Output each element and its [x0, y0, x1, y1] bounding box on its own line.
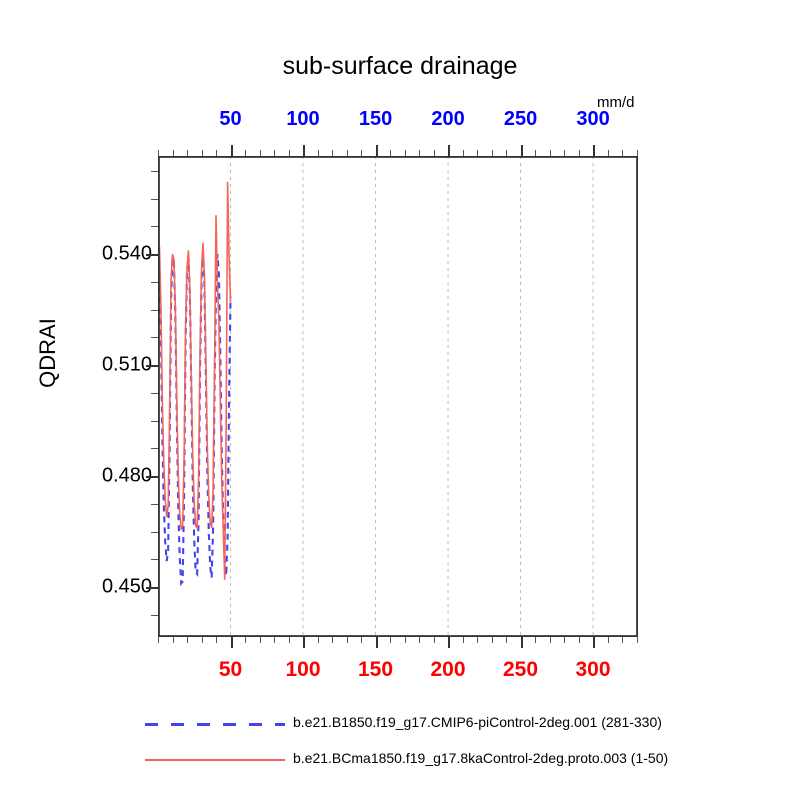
y-axis-tick-label: 0.540 [102, 243, 152, 266]
legend-item[interactable]: b.e21.BCma1850.f19_g17.8kaControl-2deg.p… [140, 746, 700, 774]
y-axis-minor-tick [151, 421, 158, 422]
y-axis-minor-tick [151, 171, 158, 172]
y-axis-minor-tick [151, 226, 158, 227]
bottom-axis-minor-tick [463, 637, 464, 643]
bottom-axis-minor-tick [550, 637, 551, 643]
top-axis-minor-tick [260, 150, 261, 156]
plot-area [158, 156, 638, 637]
bottom-axis-minor-tick [419, 637, 420, 643]
bottom-axis-major-tick [448, 637, 450, 648]
top-axis-minor-tick [637, 150, 638, 156]
bottom-axis-minor-tick [535, 637, 536, 643]
top-axis-minor-tick [318, 150, 319, 156]
bottom-axis-minor-tick [492, 637, 493, 643]
bottom-axis-minor-tick [260, 637, 261, 643]
y-axis-minor-tick [151, 282, 158, 283]
y-axis-minor-tick [151, 310, 158, 311]
top-axis-minor-tick [535, 150, 536, 156]
bottom-axis-minor-tick [637, 637, 638, 643]
y-axis-tick-label: 0.510 [102, 354, 152, 377]
bottom-axis-minor-tick [245, 637, 246, 643]
bottom-axis-major-tick [521, 637, 523, 648]
top-axis-major-tick [376, 145, 378, 156]
chart-canvas: sub-surface drainage mm/d 50100150200250… [0, 0, 800, 800]
bottom-axis-minor-tick [608, 637, 609, 643]
top-axis-minor-tick [173, 150, 174, 156]
top-axis-minor-tick [245, 150, 246, 156]
bottom-axis-major-tick [303, 637, 305, 648]
top-axis-minor-tick [477, 150, 478, 156]
top-axis-tick-labels: 50100150200250300 [158, 108, 638, 132]
y-axis-minor-tick [151, 504, 158, 505]
y-axis-major-tick [146, 365, 158, 367]
bottom-axis-major-tick [376, 637, 378, 648]
bottom-axis-tick-label: 100 [285, 658, 320, 682]
top-axis-tick-label: 250 [504, 108, 537, 131]
top-axis-minor-tick [216, 150, 217, 156]
top-axis-major-tick [448, 145, 450, 156]
bottom-axis-minor-tick [187, 637, 188, 643]
y-axis-tick-label: 0.450 [102, 576, 152, 599]
legend-solid-line-icon [145, 759, 285, 761]
bottom-axis-minor-tick [202, 637, 203, 643]
bottom-axis-minor-tick [274, 637, 275, 643]
bottom-axis-minor-tick [477, 637, 478, 643]
legend-item-label: b.e21.BCma1850.f19_g17.8kaControl-2deg.p… [293, 750, 668, 766]
y-axis-major-tick [146, 587, 158, 589]
top-axis-minor-tick [289, 150, 290, 156]
top-axis-tick-label: 100 [286, 108, 319, 131]
y-axis-minor-tick [151, 448, 158, 449]
top-axis-minor-tick [202, 150, 203, 156]
bottom-axis-minor-tick [347, 637, 348, 643]
top-axis-minor-tick [579, 150, 580, 156]
bottom-axis-tick-label: 300 [576, 658, 611, 682]
top-axis-minor-tick [187, 150, 188, 156]
top-axis-minor-tick [492, 150, 493, 156]
top-axis-minor-tick [419, 150, 420, 156]
bottom-axis-minor-tick [158, 637, 159, 643]
bottom-axis-minor-tick [216, 637, 217, 643]
top-axis-minor-tick [550, 150, 551, 156]
bottom-axis-tick-label: 150 [358, 658, 393, 682]
bottom-axis-minor-tick [361, 637, 362, 643]
bottom-axis-minor-tick [405, 637, 406, 643]
y-axis-tick-labels: 0.4500.4800.5100.540 [60, 156, 152, 638]
top-axis-minor-tick [622, 150, 623, 156]
y-axis-title: QDRAI [35, 293, 61, 413]
bottom-axis-minor-tick [506, 637, 507, 643]
top-axis-tick-label: 300 [576, 108, 609, 131]
bottom-axis-tick-label: 250 [503, 658, 538, 682]
y-axis-minor-tick [151, 615, 158, 616]
top-axis-minor-tick [506, 150, 507, 156]
bottom-axis-major-tick [231, 637, 233, 648]
top-axis-minor-tick [332, 150, 333, 156]
top-axis-tick-label: 150 [359, 108, 392, 131]
top-axis-tick-label: 200 [431, 108, 464, 131]
bottom-axis-minor-tick [622, 637, 623, 643]
bottom-axis-major-tick [593, 637, 595, 648]
y-axis-minor-tick [151, 559, 158, 560]
y-axis-minor-tick [151, 199, 158, 200]
page-title: sub-surface drainage [0, 52, 800, 81]
top-axis-minor-tick [564, 150, 565, 156]
bottom-axis-minor-tick [564, 637, 565, 643]
bottom-axis-minor-tick [173, 637, 174, 643]
top-axis-major-tick [231, 145, 233, 156]
bottom-axis-tick-labels: 50100150200250300 [158, 658, 638, 684]
top-axis-minor-tick [347, 150, 348, 156]
top-axis-major-tick [593, 145, 595, 156]
y-axis-major-tick [146, 254, 158, 256]
y-axis-major-tick [146, 476, 158, 478]
legend-item[interactable]: b.e21.B1850.f19_g17.CMIP6-piControl-2deg… [140, 710, 700, 738]
legend-dashed-line-icon [145, 723, 285, 726]
top-axis-minor-tick [274, 150, 275, 156]
top-axis-minor-tick [405, 150, 406, 156]
bottom-axis-minor-tick [289, 637, 290, 643]
series-plot [158, 156, 638, 637]
bottom-axis-minor-tick [318, 637, 319, 643]
top-axis-minor-tick [434, 150, 435, 156]
top-axis-minor-tick [463, 150, 464, 156]
top-axis-minor-tick [608, 150, 609, 156]
top-axis-minor-tick [390, 150, 391, 156]
top-axis-minor-tick [361, 150, 362, 156]
y-axis-tick-label: 0.480 [102, 465, 152, 488]
top-axis-minor-tick [158, 150, 159, 156]
legend: b.e21.B1850.f19_g17.CMIP6-piControl-2deg… [140, 700, 700, 780]
bottom-axis-tick-label: 50 [219, 658, 242, 682]
bottom-axis-tick-label: 200 [430, 658, 465, 682]
top-axis-major-tick [303, 145, 305, 156]
legend-item-label: b.e21.B1850.f19_g17.CMIP6-piControl-2deg… [293, 714, 662, 730]
bottom-axis-minor-tick [434, 637, 435, 643]
y-axis-minor-tick [151, 532, 158, 533]
bottom-axis-minor-tick [390, 637, 391, 643]
top-axis-tick-label: 50 [219, 108, 241, 131]
bottom-axis-minor-tick [579, 637, 580, 643]
bottom-axis-minor-tick [332, 637, 333, 643]
y-axis-minor-tick [151, 337, 158, 338]
y-axis-minor-tick [151, 393, 158, 394]
top-axis-major-tick [521, 145, 523, 156]
